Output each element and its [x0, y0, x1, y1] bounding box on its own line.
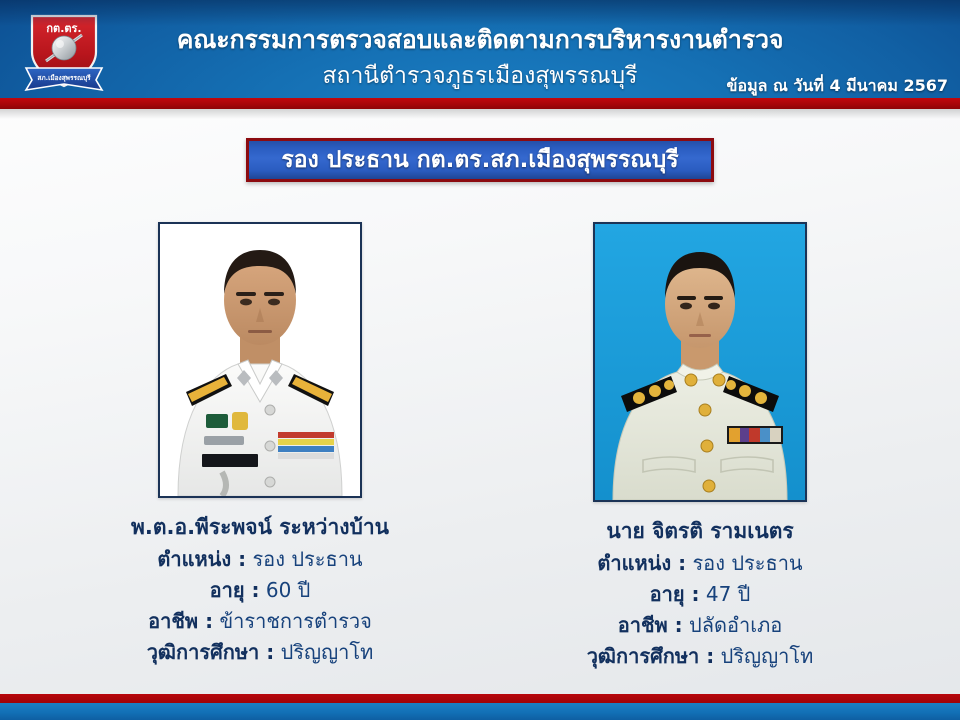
age-value: 60 ปี — [266, 578, 311, 602]
svg-text:สภ.เมืองสุพรรณบุรี: สภ.เมืองสุพรรณบุรี — [37, 74, 91, 82]
occupation-value: ปลัดอำเภอ — [689, 613, 782, 637]
footer-red-stripe — [0, 694, 960, 703]
person-card-1: นาย จิตรติ รามเนตร ตำแหน่ง : รอง ประธาน … — [490, 222, 910, 672]
footer-blue-bar — [0, 703, 960, 720]
photo-wrap-0 — [40, 222, 480, 498]
occupation-label: อาชีพ : — [618, 613, 683, 637]
person-occupation-row: อาชีพ : ปลัดอำเภอ — [490, 610, 910, 641]
position-label: ตำแหน่ง : — [597, 551, 686, 575]
header-drop-shadow — [0, 109, 960, 119]
age-value: 47 ปี — [706, 582, 751, 606]
education-label: วุฒิการศึกษา : — [147, 640, 275, 664]
kor-tor-tor-shield-logo: กต.ตร. สภ.เมืองสุพรรณบุรี — [18, 6, 110, 98]
person-education-row: วุฒิการศึกษา : ปริญญาโท — [40, 637, 480, 668]
person-position-row: ตำแหน่ง : รอง ประธาน — [490, 548, 910, 579]
person-info-0: พ.ต.อ.พีระพจน์ ระหว่างบ้าน ตำแหน่ง : รอง… — [40, 512, 480, 668]
person-position-row: ตำแหน่ง : รอง ประธาน — [40, 544, 480, 575]
person-age-row: อายุ : 47 ปี — [490, 579, 910, 610]
person-info-1: นาย จิตรติ รามเนตร ตำแหน่ง : รอง ประธาน … — [490, 516, 910, 672]
section-title-text: รอง ประธาน กต.ตร.สภ.เมืองสุพรรณบุรี — [281, 142, 678, 178]
position-value: รอง ประธาน — [692, 551, 802, 575]
slide-root: กต.ตร. สภ.เมืองสุพรรณบุรี คณะกรรมการตรวจ… — [0, 0, 960, 720]
header-date-label: ข้อมูล ณ วันที่ 4 มีนาคม 2567 — [727, 74, 948, 98]
education-value: ปริญญาโท — [721, 644, 814, 668]
education-value: ปริญญาโท — [281, 640, 374, 664]
person-name: พ.ต.อ.พีระพจน์ ระหว่างบ้าน — [40, 512, 480, 544]
occupation-label: อาชีพ : — [148, 609, 213, 633]
person-name: นาย จิตรติ รามเนตร — [490, 516, 910, 548]
svg-text:กต.ตร.: กต.ตร. — [46, 22, 81, 35]
portrait-photo-civil-official — [593, 222, 807, 502]
education-label: วุฒิการศึกษา : — [587, 644, 715, 668]
section-title-banner: รอง ประธาน กต.ตร.สภ.เมืองสุพรรณบุรี — [246, 138, 714, 182]
position-label: ตำแหน่ง : — [157, 547, 246, 571]
photo-wrap-1 — [490, 222, 910, 502]
header-red-stripe — [0, 98, 960, 109]
position-value: รอง ประธาน — [252, 547, 362, 571]
age-label: อายุ : — [650, 582, 700, 606]
portrait-photo-police-officer — [158, 222, 362, 498]
page-header: กต.ตร. สภ.เมืองสุพรรณบุรี คณะกรรมการตรวจ… — [0, 0, 960, 98]
person-occupation-row: อาชีพ : ข้าราชการตำรวจ — [40, 606, 480, 637]
person-education-row: วุฒิการศึกษา : ปริญญาโท — [490, 641, 910, 672]
person-card-0: พ.ต.อ.พีระพจน์ ระหว่างบ้าน ตำแหน่ง : รอง… — [40, 222, 480, 668]
occupation-value: ข้าราชการตำรวจ — [219, 609, 371, 633]
header-title: คณะกรรมการตรวจสอบและติดตามการบริหารงานตำ… — [120, 20, 840, 60]
person-age-row: อายุ : 60 ปี — [40, 575, 480, 606]
age-label: อายุ : — [210, 578, 260, 602]
